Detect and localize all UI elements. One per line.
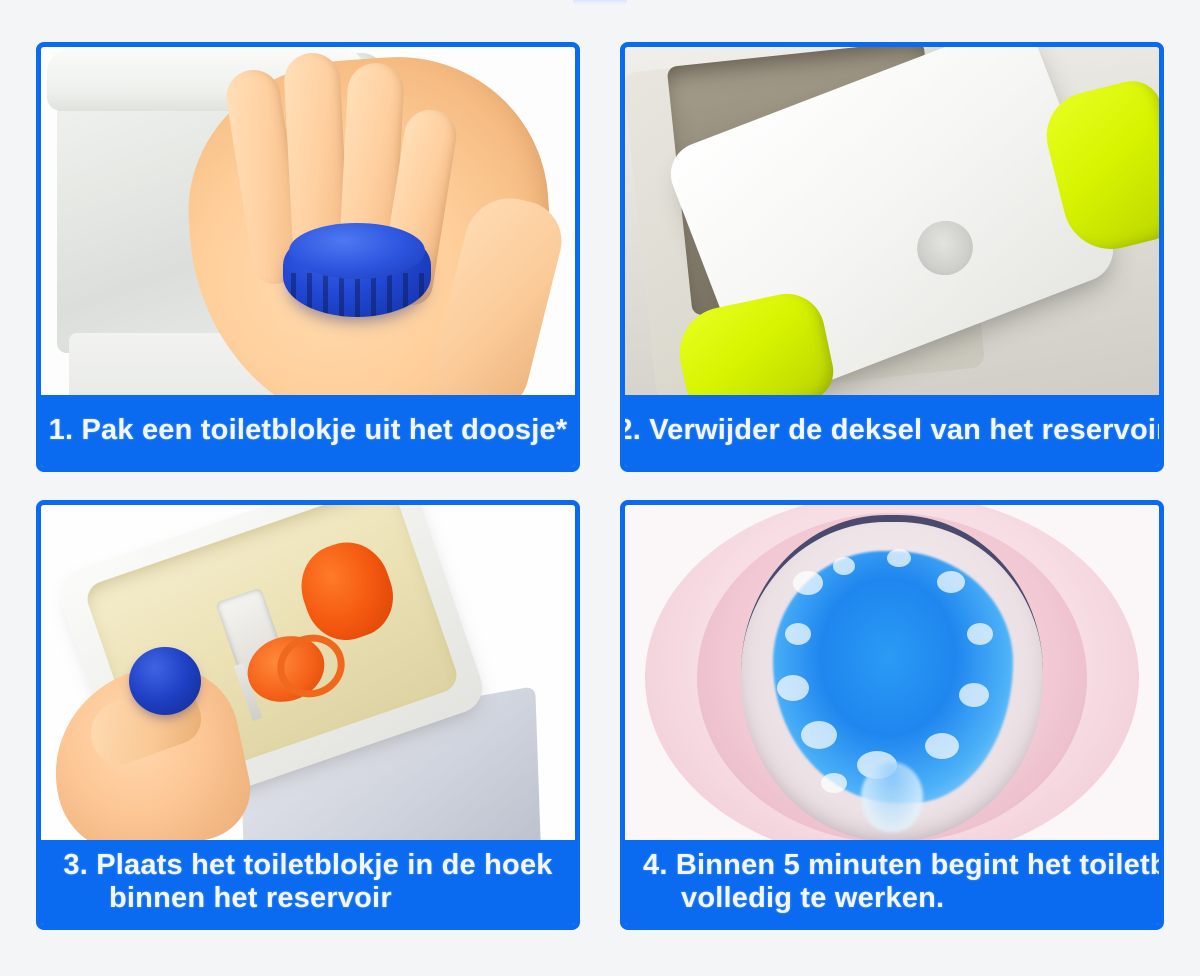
step-4-caption-line-2: volledig te werken. — [637, 882, 1147, 915]
step-3-caption-line-1: 3. Plaats het toiletblokje in de hoek — [53, 849, 563, 882]
cropped-top-element — [573, 0, 627, 5]
foam-bubble — [801, 721, 837, 749]
step-2-caption-line-1: 2. Verwijder de deksel van het reservoir — [620, 414, 1164, 447]
step-card-1[interactable]: 1. Pak een toiletblokje uit het doosje* — [36, 42, 580, 472]
foam-bubble — [777, 675, 809, 701]
step-4-image — [625, 505, 1159, 840]
blue-toilet-block-top — [289, 223, 425, 279]
step-3-caption-line-2: binnen het reservoir — [53, 882, 563, 915]
step-card-3[interactable]: 3. Plaats het toiletblokje in de hoek bi… — [36, 500, 580, 930]
step-3-image — [41, 505, 575, 840]
blue-toilet-block-being-placed — [129, 647, 201, 715]
step-1-caption: 1. Pak een toiletblokje uit het doosje* — [41, 395, 575, 467]
foam-bubble — [925, 733, 959, 759]
instruction-steps-grid: 1. Pak een toiletblokje uit het doosje* … — [36, 42, 1164, 930]
step-card-4[interactable]: 4. Binnen 5 minuten begint het toiletblo… — [620, 500, 1164, 930]
step-4-caption-line-1: 4. Binnen 5 minuten begint het toiletblo… — [637, 849, 1147, 882]
foam-bubble — [887, 549, 911, 567]
bowl-drain-swirl — [861, 762, 923, 832]
step-3-caption: 3. Plaats het toiletblokje in de hoek bi… — [41, 840, 575, 925]
foam-bubble — [821, 773, 847, 793]
step-1-caption-line-1: 1. Pak een toiletblokje uit het doosje* — [49, 414, 568, 447]
step-2-image — [625, 47, 1159, 395]
step-1-image — [41, 47, 575, 395]
foam-bubble — [793, 571, 823, 595]
step-2-caption: 2. Verwijder de deksel van het reservoir — [625, 395, 1159, 467]
foam-bubble — [967, 623, 993, 645]
foam-bubble — [937, 571, 965, 593]
foam-bubble — [959, 683, 989, 707]
step-4-caption: 4. Binnen 5 minuten begint het toiletblo… — [625, 840, 1159, 925]
foam-bubble — [833, 557, 855, 575]
foam-bubble — [785, 623, 811, 645]
step-card-2[interactable]: 2. Verwijder de deksel van het reservoir — [620, 42, 1164, 472]
